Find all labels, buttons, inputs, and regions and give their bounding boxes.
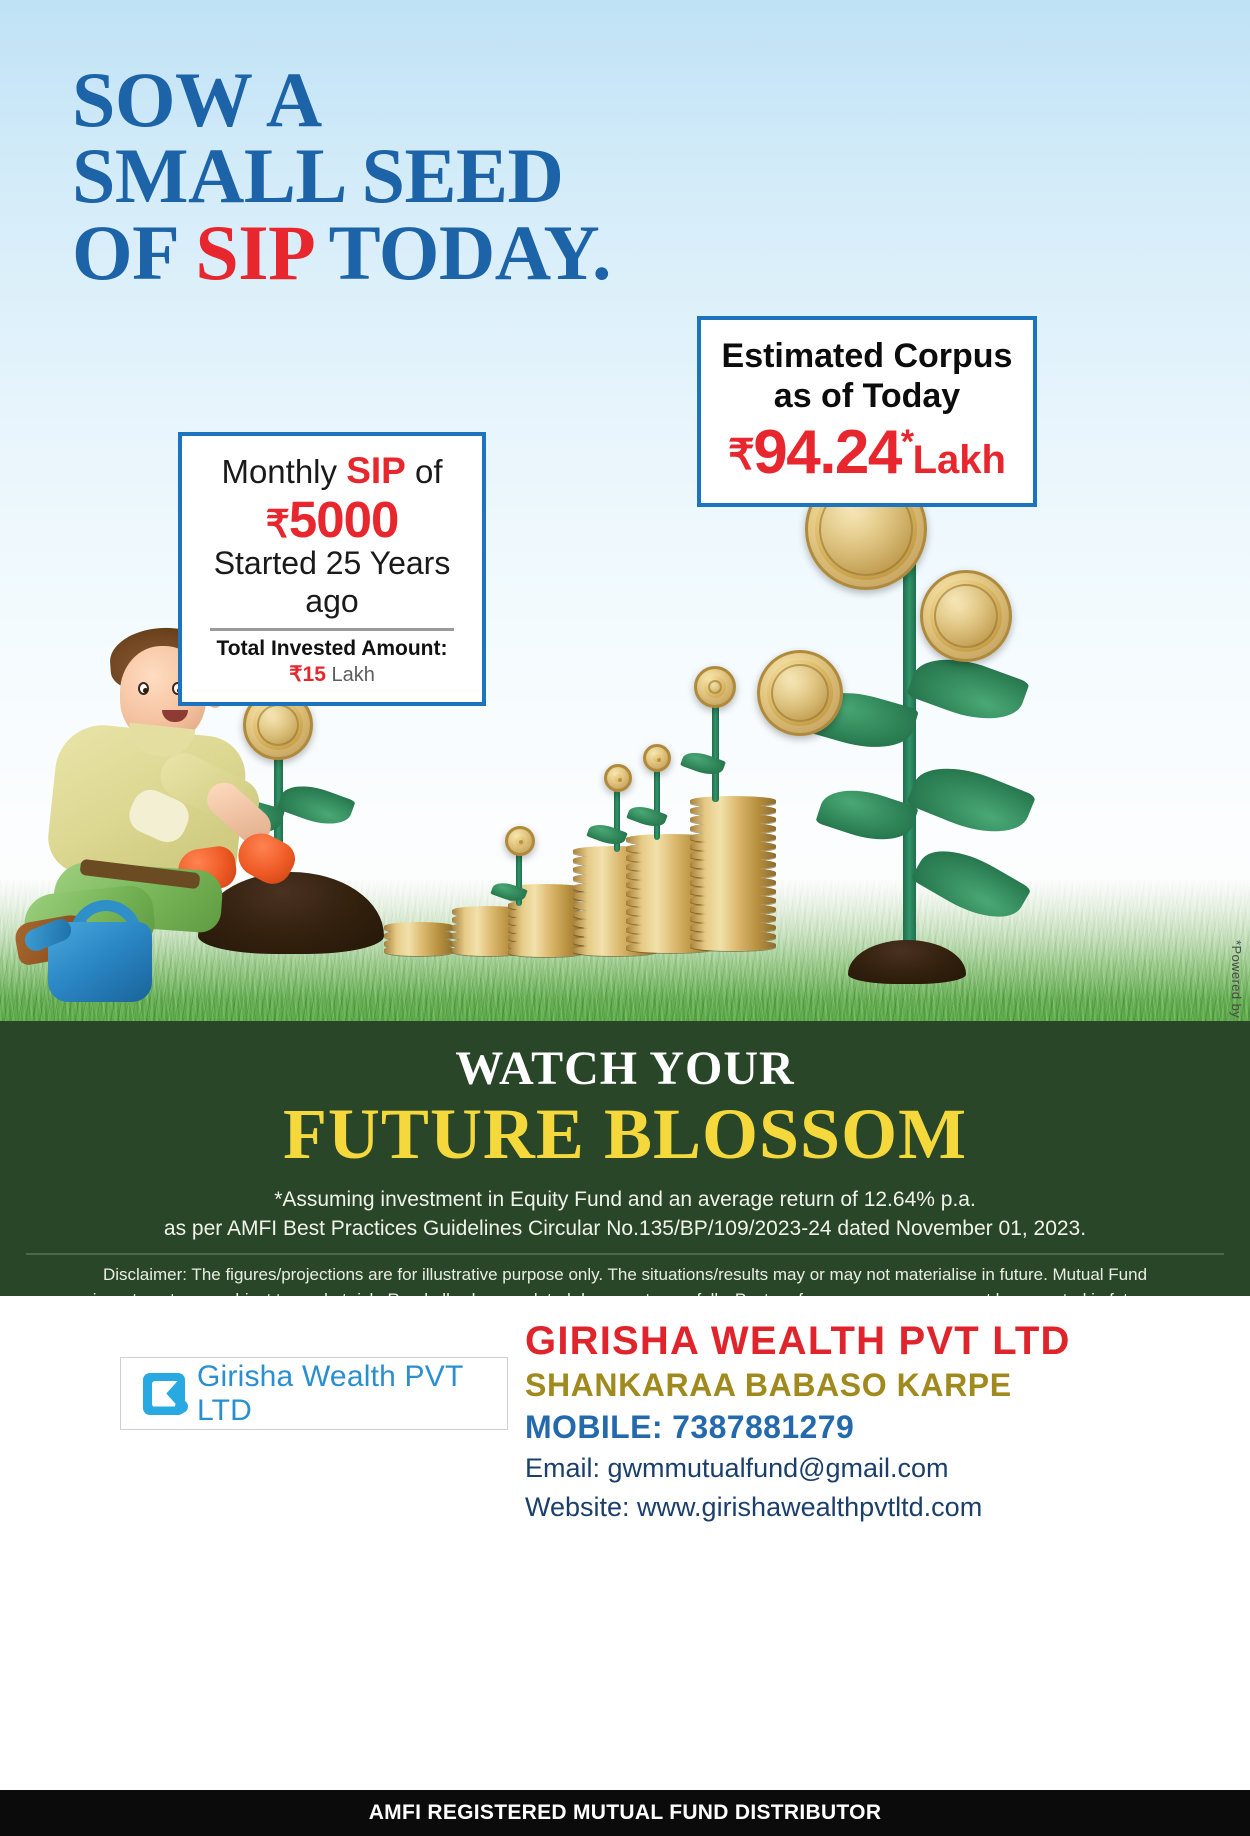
sip-label-highlight: SIP [346, 450, 406, 491]
invested-amount: ₹15 [289, 663, 326, 686]
website-url[interactable]: Website: www.girishawealthpvtltd.com [525, 1489, 1205, 1525]
sip-divider [210, 628, 454, 631]
rupee-icon: ₹ [266, 504, 289, 546]
headline-suffix: TODAY. [311, 209, 611, 296]
sip-label-suffix: of [406, 453, 443, 490]
page-title: SOW A SMALL SEED OF SIP TODAY. [72, 62, 772, 291]
sip-label-prefix: Monthly [221, 453, 346, 490]
amfi-footer-bar: AMFI REGISTERED MUTUAL FUND DISTRIBUTOR [0, 1790, 1250, 1836]
corpus-value-number: 94.24 [753, 418, 901, 487]
sip-amount: ₹5000 [192, 493, 472, 547]
tagline-line-2: FUTURE BLOSSOM [0, 1097, 1250, 1173]
poster-root: SOW A SMALL SEED OF SIP TODAY. [0, 0, 1250, 1836]
disclaimer-line-1: Disclaimer: The figures/projections are … [26, 1263, 1224, 1288]
invested-unit: Lakh [326, 664, 375, 686]
gardener-eye-left [138, 682, 149, 695]
sip-label: Monthly SIP of [192, 450, 472, 493]
total-invested-value: ₹15 Lakh [192, 661, 472, 688]
logo-text: Girisha Wealth PVT LTD [197, 1360, 507, 1428]
watering-can [30, 898, 180, 1010]
corpus-title-line-2: as of Today [711, 376, 1023, 416]
corpus-title-line-1: Estimated Corpus [711, 336, 1023, 376]
contact-details: GIRISHA WEALTH PVT LTD SHANKARAA BABASO … [525, 1318, 1205, 1526]
corpus-value-unit: Lakh [913, 438, 1006, 482]
headline-line-2: SMALL SEED [72, 138, 772, 214]
coin-flower-small [757, 650, 843, 736]
tagline-banner: WATCH YOUR FUTURE BLOSSOM *Assuming inve… [0, 1021, 1250, 1296]
rupee-icon: ₹ [728, 431, 753, 478]
brand-logo: Girisha Wealth PVT LTD [120, 1357, 508, 1430]
monthly-sip-card: Monthly SIP of ₹5000 Started 25 Years ag… [178, 432, 486, 706]
estimated-corpus-card: Estimated Corpus as of Today ₹94.24*Lakh [697, 316, 1037, 507]
headline-highlight-sip: SIP [195, 209, 311, 296]
corpus-value: ₹94.24*Lakh [711, 420, 1023, 485]
sprout-coin [643, 744, 671, 772]
assumption-line-1: *Assuming investment in Equity Fund and … [0, 1185, 1250, 1214]
banner-divider [26, 1253, 1224, 1255]
sprout-stem [654, 770, 660, 840]
asterisk-icon: * [901, 423, 913, 461]
sprout-stem [712, 702, 719, 802]
amfi-footer-text: AMFI REGISTERED MUTUAL FUND DISTRIBUTOR [369, 1801, 882, 1825]
coin-flower-medium [920, 570, 1012, 662]
distributor-name: SHANKARAA BABASO KARPE [525, 1366, 1205, 1405]
logo-mark-icon [143, 1373, 185, 1415]
email-address[interactable]: Email: gwmmutualfund@gmail.com [525, 1450, 1205, 1486]
plant-stem-large [903, 560, 916, 970]
assumption-text: *Assuming investment in Equity Fund and … [0, 1185, 1250, 1244]
assumption-line-2: as per AMFI Best Practices Guidelines Ci… [0, 1214, 1250, 1243]
sprout-coin [604, 764, 632, 792]
headline-line-3: OF SIP TODAY. [72, 215, 772, 291]
headline-prefix: OF [72, 209, 195, 296]
sip-duration: Started 25 Years ago [192, 544, 472, 621]
company-name: GIRISHA WEALTH PVT LTD [525, 1318, 1205, 1364]
sprout-coin [694, 666, 736, 708]
coin-stack-6 [690, 796, 776, 956]
sip-amount-value: 5000 [289, 491, 398, 548]
mobile-number[interactable]: MOBILE: 7387881279 [525, 1407, 1205, 1447]
headline-line-1: SOW A [72, 62, 772, 138]
coin-stack-1 [384, 922, 454, 956]
tagline-line-1: WATCH YOUR [0, 1021, 1250, 1093]
total-invested-label: Total Invested Amount: [192, 637, 472, 661]
sprout-coin [505, 826, 535, 856]
